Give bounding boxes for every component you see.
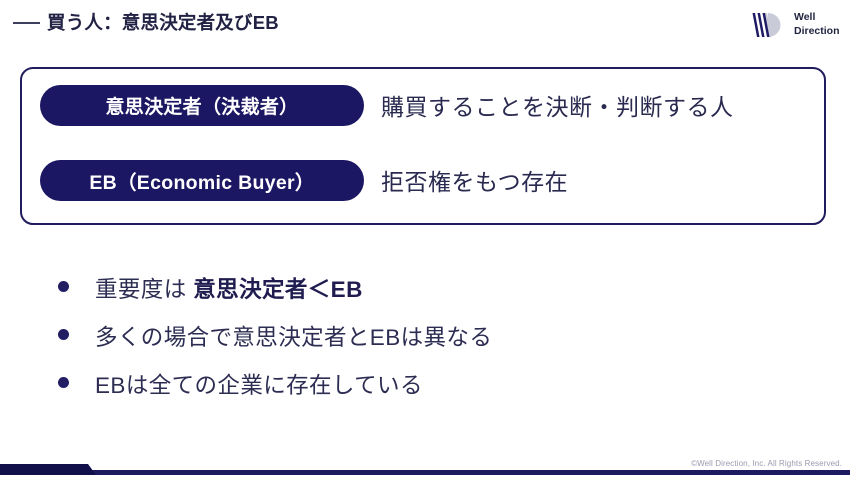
slide-header: 買う人：意思決定者及びEB [0, 0, 850, 48]
list-item-text: 重要度は 意思決定者＜EB [95, 272, 363, 304]
page-title: 買う人：意思決定者及びEB [47, 9, 279, 35]
list-item: EBは全ての企業に存在している [58, 368, 818, 401]
definition-row: 意思決定者（決裁者） 購買することを決断・判断する人 [22, 84, 824, 126]
definition-box: 意思決定者（決裁者） 購買することを決断・判断する人 EB（Economic B… [20, 67, 826, 225]
list-item: 多くの場合で意思決定者とEBは異なる [58, 320, 818, 353]
term-description-economic-buyer: 拒否権をもつ存在 [381, 163, 568, 197]
term-badge-economic-buyer: EB（Economic Buyer） [40, 160, 364, 201]
horizontal-rule-icon [13, 22, 40, 24]
brand-logo-text: Well Direction [794, 11, 840, 38]
definition-row: EB（Economic Buyer） 拒否権をもつ存在 [22, 159, 824, 201]
term-description-decision-maker: 購買することを決断・判断する人 [381, 88, 734, 122]
brand-logo: Well Direction [752, 11, 844, 41]
list-item-lead: 多くの場合で意思決定者とEBは異なる [95, 325, 492, 350]
list-item-lead: 重要度は [95, 277, 193, 302]
bullet-dot-icon [58, 377, 69, 388]
slide-canvas: 買う人：意思決定者及びEB Well Direction 意思決定者（決裁者） … [0, 0, 850, 478]
term-badge-decision-maker: 意思決定者（決裁者） [40, 85, 364, 126]
list-item-text: EBは全ての企業に存在している [95, 368, 423, 400]
list-item-text: 多くの場合で意思決定者とEBは異なる [95, 320, 492, 352]
bullet-dot-icon [58, 281, 69, 292]
brand-logo-line1: Well [794, 11, 840, 25]
list-item-lead: EBは全ての企業に存在している [95, 373, 423, 398]
brand-logo-line2: Direction [794, 25, 840, 39]
footer-accent-block [0, 464, 96, 475]
list-item: 重要度は 意思決定者＜EB [58, 272, 818, 305]
bullet-list: 重要度は 意思決定者＜EB 多くの場合で意思決定者とEBは異なる EBは全ての企… [58, 272, 818, 416]
footer-copyright: ©Well Direction, Inc. All Rights Reserve… [691, 459, 842, 468]
bullet-dot-icon [58, 329, 69, 340]
footer-accent-bar [0, 470, 850, 475]
well-direction-logo-mark-icon [752, 12, 788, 39]
list-item-emphasis: 意思決定者＜EB [193, 277, 362, 302]
